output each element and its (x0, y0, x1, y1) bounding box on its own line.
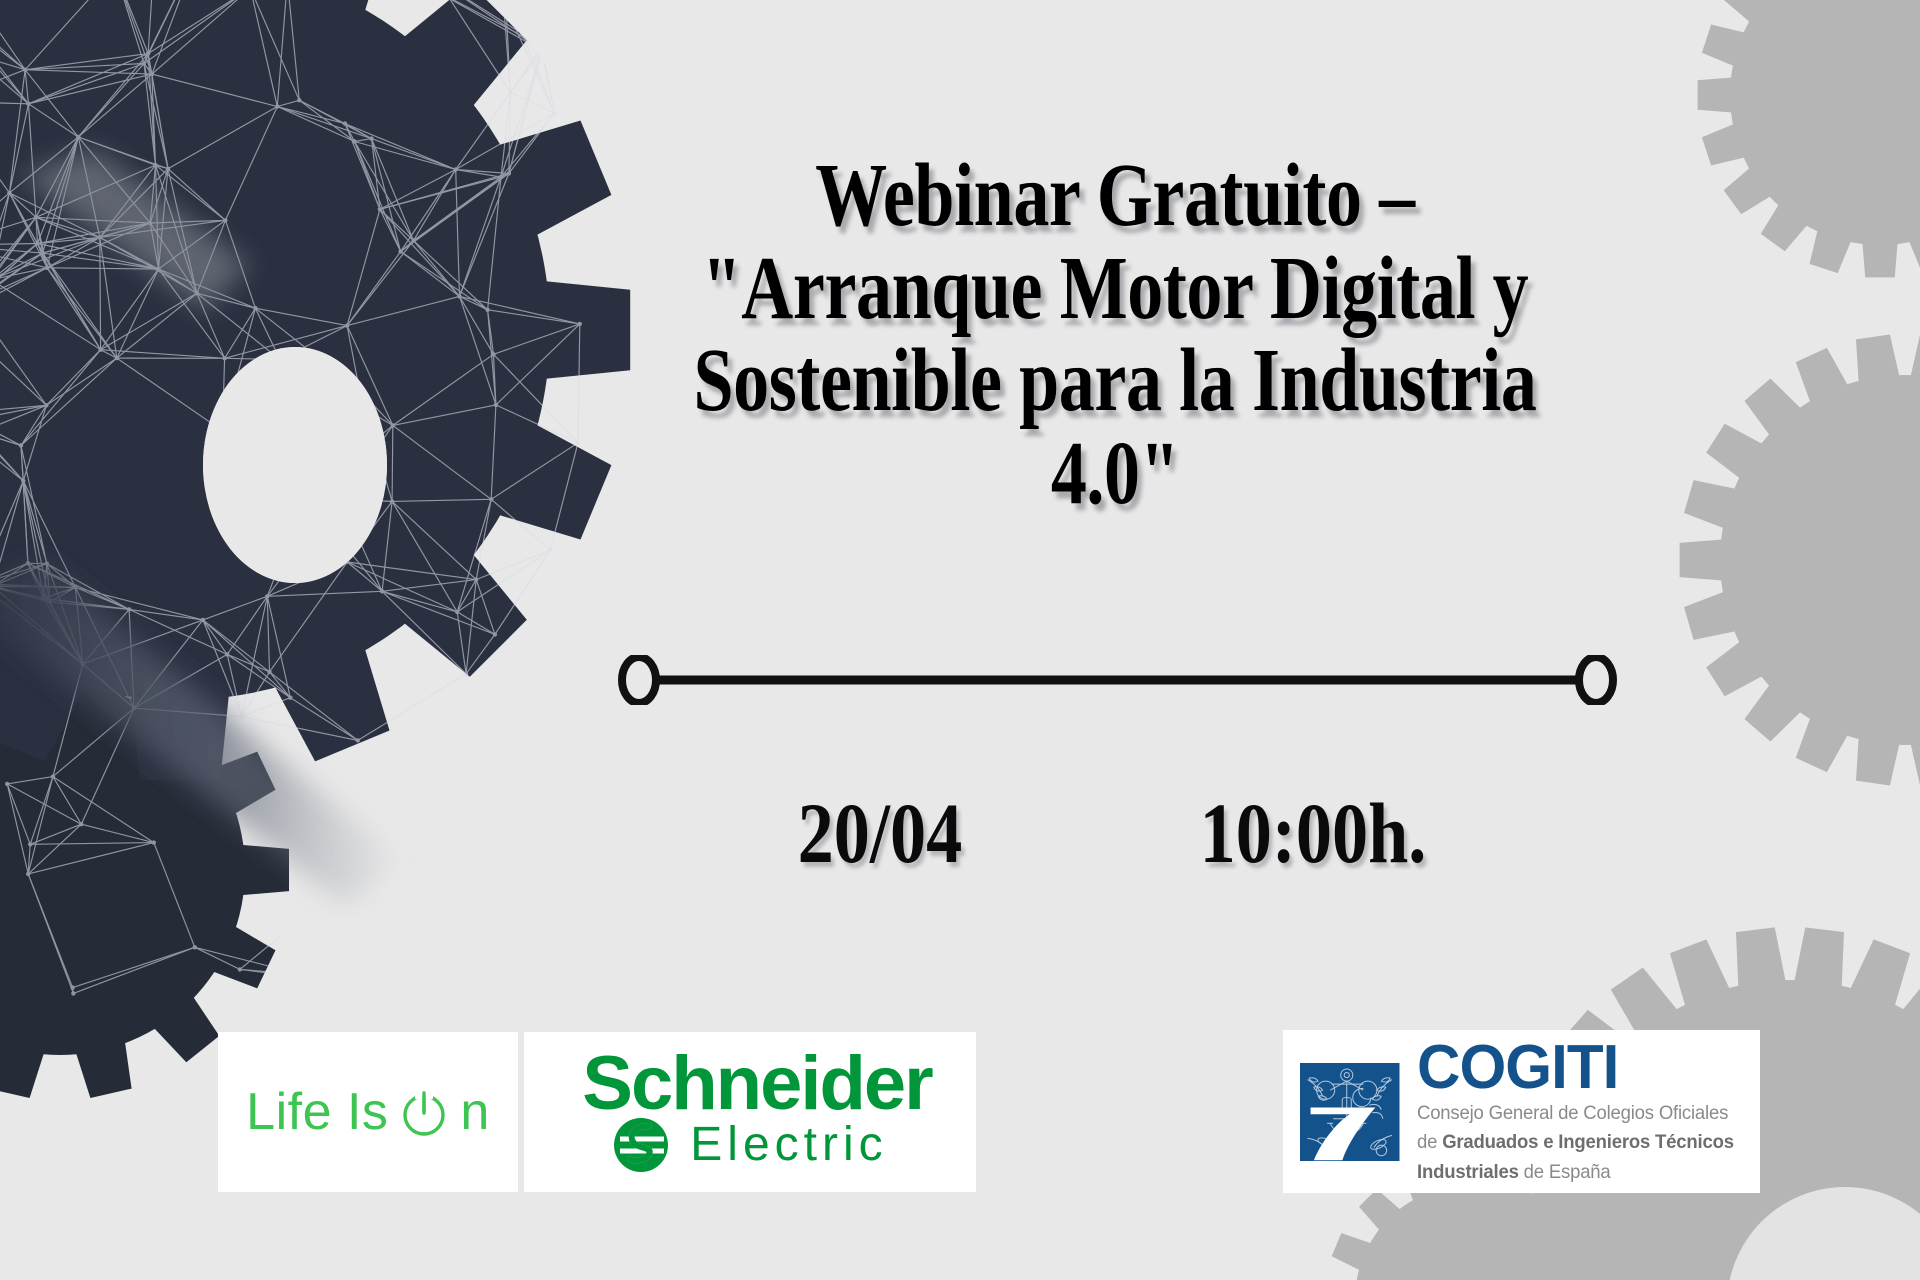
life-is-on-text-left: Life Is (246, 1086, 388, 1138)
cogiti-emblem-icon (1297, 1043, 1403, 1181)
page-title: Webinar Gratuito – "Arranque Motor Digit… (623, 150, 1607, 521)
gray-gear-top-right (1698, 0, 1920, 277)
cogiti-text-block: COGITI Consejo General de Colegios Ofici… (1417, 1039, 1751, 1185)
schneider-lockup: Schneider Electric (568, 1048, 931, 1176)
schneider-electric-logo: Life Is n Schneider (218, 1032, 976, 1192)
cogiti-subtitle-line-1: Consejo General de Colegios Oficiales (1417, 1101, 1734, 1126)
cogiti-sub3-bold: Industriales (1417, 1161, 1519, 1183)
life-is-on-panel: Life Is n (218, 1032, 518, 1192)
cogiti-subtitle-line-2: de Graduados e Ingenieros Técnicos (1417, 1130, 1734, 1155)
cogiti-sub2-bold: Graduados e Ingenieros Técnicos (1442, 1131, 1734, 1153)
event-date: 20/04 (798, 790, 963, 876)
schneider-panel: Schneider Electric (524, 1032, 976, 1192)
event-time: 10:00h. (1200, 790, 1427, 876)
cogiti-logo: COGITI Consejo General de Colegios Ofici… (1283, 1030, 1760, 1193)
cogiti-subtitle-line-3: Industriales de España (1417, 1160, 1734, 1185)
life-is-on-text-right: n (460, 1086, 489, 1138)
life-is-on-lockup: Life Is n (246, 1085, 490, 1139)
event-meta-row: 20/04 10:00h. (500, 790, 1730, 876)
schneider-brand-sub: Electric (690, 1121, 887, 1169)
cogiti-sub3-plain: de España (1518, 1161, 1610, 1183)
gear-center-hole (203, 347, 387, 583)
cogiti-name: COGITI (1417, 1039, 1740, 1096)
schneider-sub-lockup: Electric (582, 1114, 887, 1176)
motion-streak (0, 560, 400, 905)
network-mesh-overlay (0, 0, 582, 996)
power-icon (397, 1085, 451, 1139)
decorative-divider (615, 655, 1620, 705)
motion-streak-secondary (20, 150, 250, 310)
divider-endpoint-right (1579, 657, 1613, 703)
schneider-brand-name: Schneider (582, 1048, 931, 1120)
schneider-s-mark-icon (608, 1114, 682, 1176)
divider-endpoint-left (622, 657, 656, 703)
webinar-poster: Webinar Gratuito – "Arranque Motor Digit… (0, 0, 1920, 1280)
cogiti-sub2-plain: de (1417, 1131, 1442, 1153)
